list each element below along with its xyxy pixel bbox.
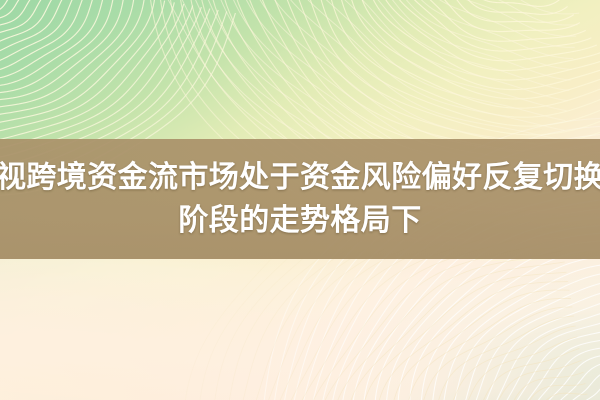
title-band: 透视跨境资金流市场处于资金风险偏好反复切换的 阶段的走势格局下 [0, 139, 600, 259]
title-line-1: 透视跨境资金流市场处于资金风险偏好反复切换的 [0, 156, 600, 199]
title-line-2: 阶段的走势格局下 [178, 199, 421, 242]
banner-canvas: 透视跨境资金流市场处于资金风险偏好反复切换的 阶段的走势格局下 [0, 0, 600, 400]
